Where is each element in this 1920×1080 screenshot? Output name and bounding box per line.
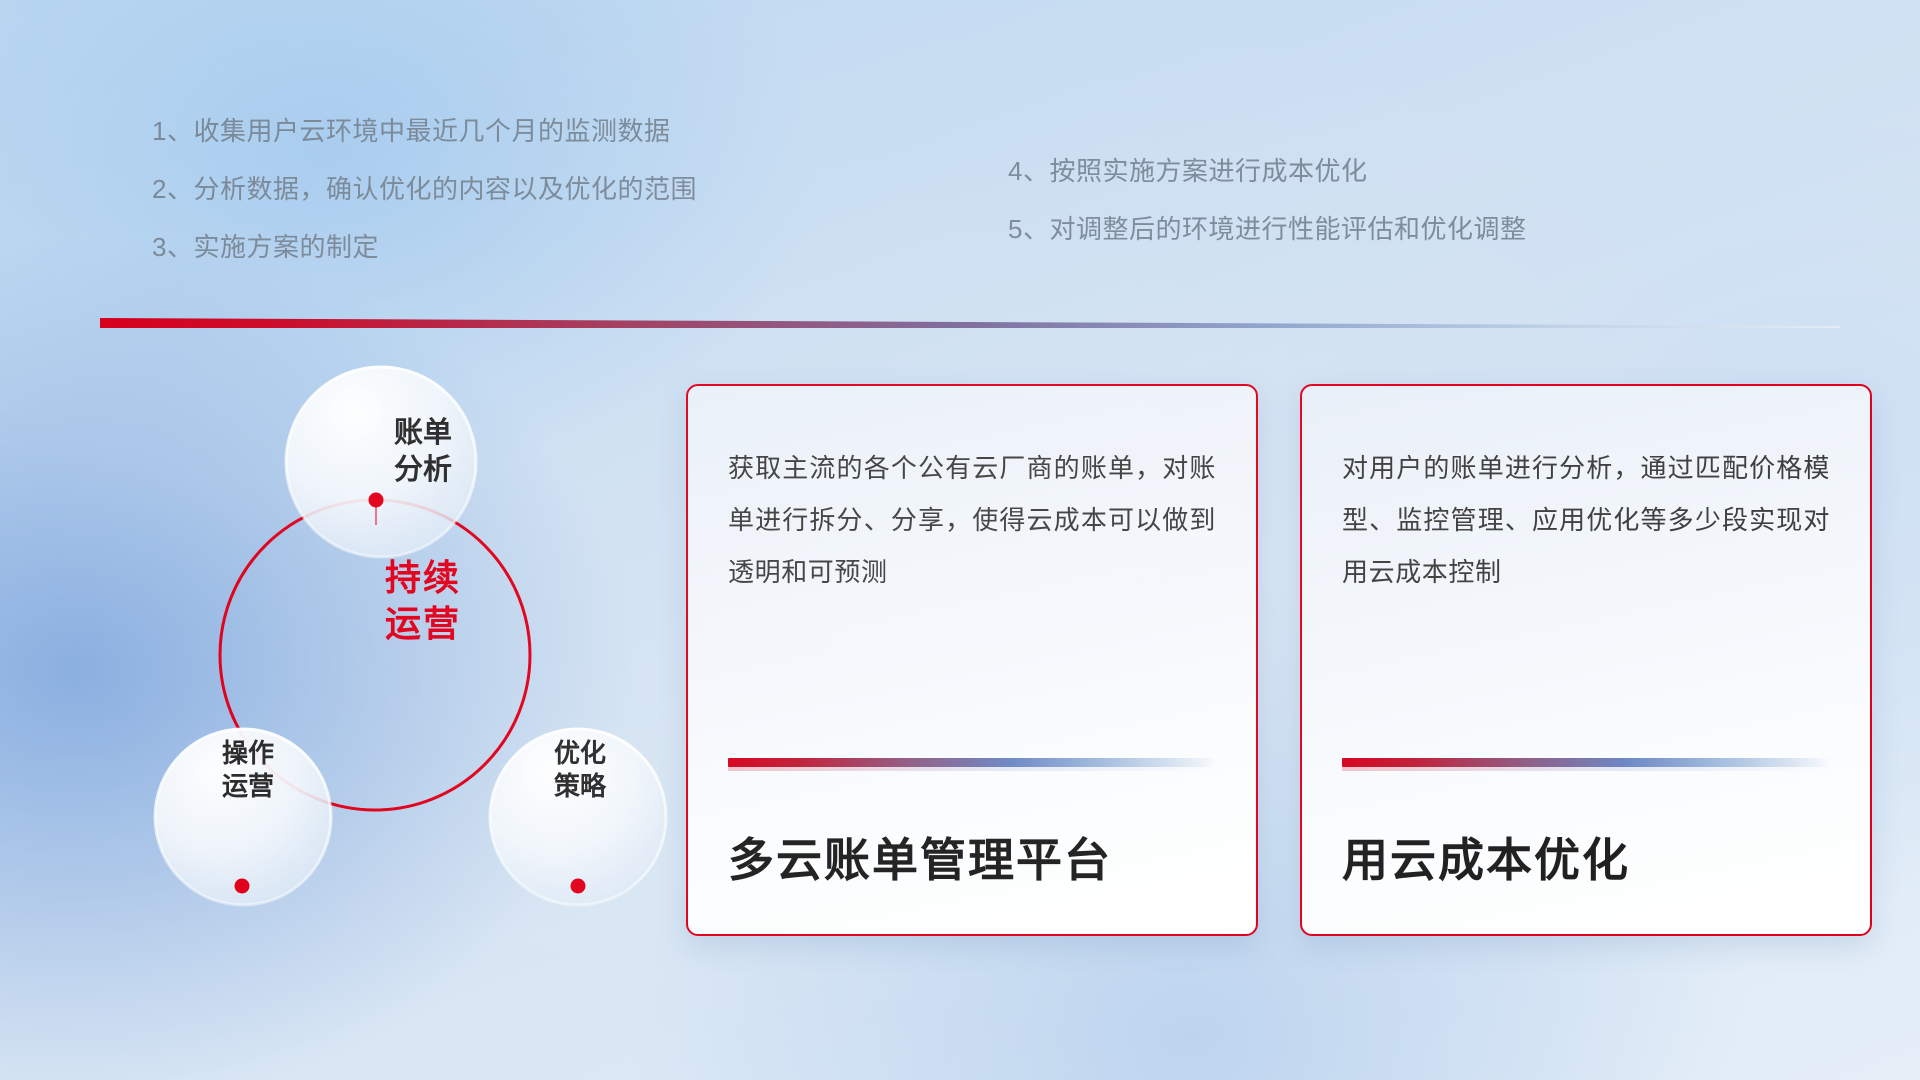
connector-dot-top: [369, 493, 384, 508]
divider-shape: [100, 316, 1840, 328]
connector-dot-right: [571, 879, 586, 894]
card-cost-optimization[interactable]: 对用户的账单进行分析，通过匹配价格模型、监控管理、应用优化等多少段实现对用云成本…: [1300, 384, 1872, 936]
card-body-text: 对用户的账单进行分析，通过匹配价格模型、监控管理、应用优化等多少段实现对用云成本…: [1342, 442, 1830, 598]
connector-dot-left: [235, 879, 250, 894]
section-divider: [100, 316, 1840, 328]
continuous-operation-diagram: 账单 分析 操作 运营 优化 策略 持续 运营: [95, 355, 655, 955]
card-multicloud-billing[interactable]: 获取主流的各个公有云厂商的账单，对账单进行拆分、分享，使得云成本可以做到透明和可…: [686, 384, 1258, 936]
step-item: 4、按照实施方案进行成本优化: [1008, 158, 1526, 184]
card-body-text: 获取主流的各个公有云厂商的账单，对账单进行拆分、分享，使得云成本可以做到透明和可…: [728, 442, 1216, 598]
bubble-top[interactable]: [286, 367, 476, 557]
step-item: 5、对调整后的环境进行性能评估和优化调整: [1008, 216, 1526, 242]
card-accent-rule: [1342, 758, 1830, 767]
step-item: 1、收集用户云环境中最近几个月的监测数据: [152, 118, 697, 144]
steps-list-right: 4、按照实施方案进行成本优化 5、对调整后的环境进行性能评估和优化调整: [1008, 158, 1526, 242]
card-title: 多云账单管理平台: [728, 824, 1112, 890]
card-title: 用云成本优化: [1342, 824, 1630, 890]
diagram-svg: [95, 355, 655, 955]
step-item: 2、分析数据，确认优化的内容以及优化的范围: [152, 176, 697, 202]
card-accent-rule: [728, 758, 1216, 767]
steps-list-left: 1、收集用户云环境中最近几个月的监测数据 2、分析数据，确认优化的内容以及优化的…: [152, 118, 697, 260]
slide-canvas: 1、收集用户云环境中最近几个月的监测数据 2、分析数据，确认优化的内容以及优化的…: [0, 0, 1920, 1080]
step-item: 3、实施方案的制定: [152, 234, 697, 260]
